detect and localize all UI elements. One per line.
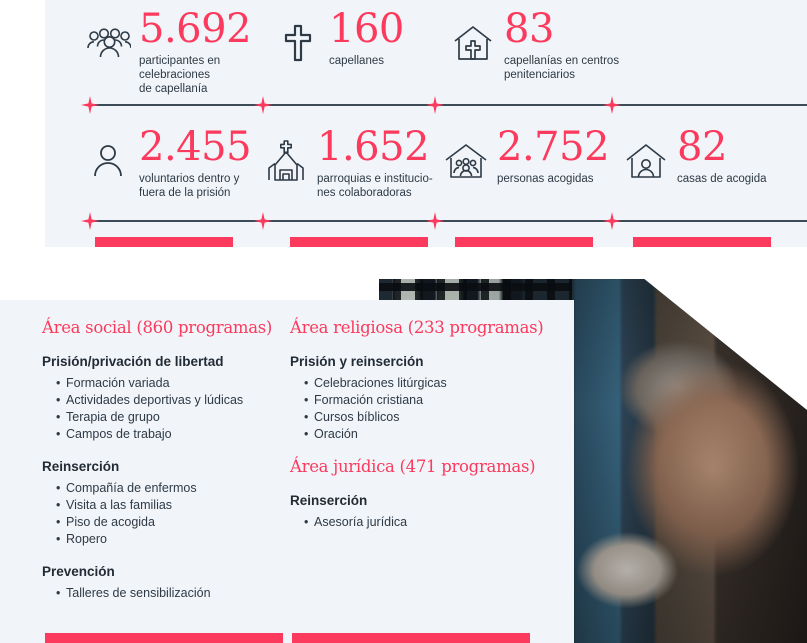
list-item: Visita a las familias [56, 497, 290, 514]
stat-label: personas acogidas [497, 172, 609, 186]
stat-number: 82 [677, 126, 767, 168]
stat-text-casas-acogida: 82 casas de acogida [677, 126, 767, 186]
program-list: Celebraciones litúrgicas Formación crist… [304, 375, 555, 443]
programs-column-social: Área social (860 programas) Prisión/priv… [42, 318, 290, 602]
timeline-line [85, 220, 807, 222]
stat-text-capellanes: 160 capellanes [329, 8, 404, 68]
list-item: Celebraciones litúrgicas [304, 375, 555, 392]
stat-block-capellanias: 83 capellanías en centros penitenciarios [450, 8, 619, 82]
list-item: Formación cristiana [304, 392, 555, 409]
list-item: Piso de acogida [56, 514, 290, 531]
stat-block-capellanes: 160 capellanes [275, 8, 404, 68]
timeline-row-1 [85, 96, 807, 114]
house-with-people-icon [443, 138, 489, 184]
timeline-marker [603, 212, 621, 230]
stat-text-participantes: 5.692 participantes en celebraciones de … [139, 8, 251, 96]
group-heading: Reinserción [290, 493, 555, 508]
program-list: Formación variada Actividades deportivas… [56, 375, 290, 443]
area-heading-social: Área social (860 programas) [42, 318, 290, 338]
stat-number: 2.752 [497, 126, 609, 168]
timeline-marker [254, 96, 272, 114]
list-item: Oración [304, 426, 555, 443]
cross-icon [275, 20, 321, 66]
stat-label: voluntarios dentro y fuera de la prisión [139, 172, 251, 200]
accent-bar [45, 633, 283, 643]
stat-block-participantes: 5.692 participantes en celebraciones de … [85, 8, 251, 96]
stat-label: capellanías en centros penitenciarios [504, 54, 619, 82]
list-item: Talleres de sensibilización [56, 585, 290, 602]
stat-label-line: participantes en [139, 55, 220, 67]
list-item: Campos de trabajo [56, 426, 290, 443]
stat-number: 2.455 [139, 126, 251, 168]
stat-label: participantes en celebraciones de capell… [139, 54, 251, 96]
church-icon [263, 138, 309, 184]
stat-text-voluntarios: 2.455 voluntarios dentro y fuera de la p… [139, 126, 251, 200]
church-house-cross-icon [450, 20, 496, 66]
program-list: Asesoría jurídica [304, 514, 555, 531]
stat-number: 5.692 [139, 8, 251, 50]
list-item: Asesoría jurídica [304, 514, 555, 531]
stat-label-line: parroquias e institucio- [317, 173, 433, 185]
list-item: Terapia de grupo [56, 409, 290, 426]
programs-column-religious-legal: Área religiosa (233 programas) Prisión y… [290, 318, 555, 531]
timeline-marker [81, 212, 99, 230]
stat-label: parroquias e institucio- nes colaborador… [317, 172, 433, 200]
programs-panel: Área social (860 programas) Prisión/priv… [0, 300, 574, 643]
stat-number: 1.652 [317, 126, 433, 168]
statistics-panel: 5.692 participantes en celebraciones de … [45, 0, 807, 247]
group-heading: Prisión y reinserción [290, 354, 555, 369]
timeline-marker [254, 212, 272, 230]
stat-label: casas de acogida [677, 172, 767, 186]
stat-label-line: nes colaboradoras [317, 187, 412, 199]
stat-label-line: penitenciarios [504, 69, 575, 81]
stat-label-line: fuera de la prisión [139, 187, 230, 199]
list-item: Ropero [56, 531, 290, 548]
list-item: Compañía de enfermos [56, 480, 290, 497]
list-item: Formación variada [56, 375, 290, 392]
stat-number: 160 [329, 8, 404, 50]
program-list: Compañía de enfermos Visita a las famili… [56, 480, 290, 548]
timeline-row-2 [85, 212, 807, 230]
stat-label-line: capellanías en centros [504, 55, 619, 67]
timeline-marker [426, 96, 444, 114]
stat-label-line: de capellanía [139, 83, 207, 95]
stat-block-voluntarios: 2.455 voluntarios dentro y fuera de la p… [85, 126, 251, 200]
section-spacer [290, 443, 555, 457]
stat-block-casas-acogida: 82 casas de acogida [623, 126, 767, 186]
timeline-marker [81, 96, 99, 114]
group-of-people-icon [85, 20, 131, 66]
accent-bar [292, 633, 530, 643]
area-heading-legal: Área jurídica (471 programas) [290, 457, 555, 477]
accent-bar [290, 237, 428, 247]
stat-block-personas-acogidas: 2.752 personas acogidas [443, 126, 609, 186]
list-item: Cursos bíblicos [304, 409, 555, 426]
stat-label: capellanes [329, 54, 404, 68]
area-heading-religious: Área religiosa (233 programas) [290, 318, 555, 338]
timeline-marker [426, 212, 444, 230]
group-heading: Reinserción [42, 459, 290, 474]
stat-text-parroquias: 1.652 parroquias e institucio- nes colab… [317, 126, 433, 200]
timeline-marker [603, 96, 621, 114]
accent-bar [633, 237, 771, 247]
stat-number: 83 [504, 8, 619, 50]
stat-block-parroquias: 1.652 parroquias e institucio- nes colab… [263, 126, 433, 200]
list-item: Actividades deportivas y lúdicas [56, 392, 290, 409]
group-heading: Prevención [42, 564, 290, 579]
person-icon [85, 138, 131, 184]
accent-bar [95, 237, 233, 247]
house-with-person-icon [623, 138, 669, 184]
group-heading: Prisión/privación de libertad [42, 354, 290, 369]
timeline-line [85, 104, 807, 106]
stat-label-line: celebraciones [139, 69, 210, 81]
stat-text-capellanias: 83 capellanías en centros penitenciarios [504, 8, 619, 82]
stat-text-personas-acogidas: 2.752 personas acogidas [497, 126, 609, 186]
accent-bar [455, 237, 593, 247]
stat-label-line: voluntarios dentro y [139, 173, 239, 185]
program-list: Talleres de sensibilización [56, 585, 290, 602]
